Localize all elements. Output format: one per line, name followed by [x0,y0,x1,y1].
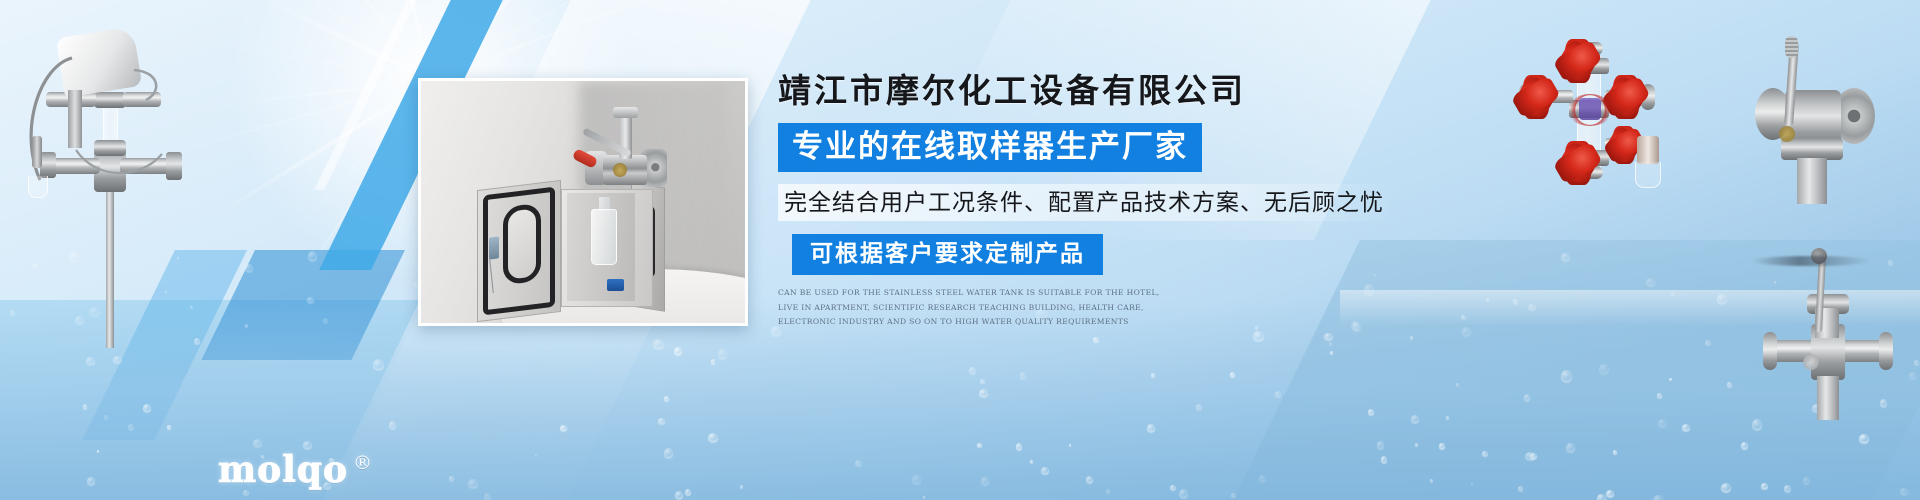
water-droplet [912,475,921,484]
water-droplet [1179,489,1188,498]
water-droplet [535,454,537,456]
water-droplet [1381,456,1387,463]
br-valve-badge [1803,354,1819,370]
water-droplet [711,359,715,364]
water-droplet [1275,391,1281,397]
manifold-sample-cup [1635,162,1661,188]
water-droplet [83,404,87,409]
sun-ray [430,0,507,80]
water-droplet [323,318,328,323]
water-droplet [1561,253,1570,261]
water-droplet [1253,331,1264,341]
water-droplet [1682,424,1690,431]
water-droplet [1461,315,1466,319]
water-droplet [373,359,384,370]
water-droplet [1324,333,1333,340]
lever-valve-handle-grip [1785,36,1798,58]
water-droplet [1518,486,1523,491]
water-droplet [1657,393,1662,398]
flanged-lever-valve-product [1745,34,1905,204]
sampler-relief-valve [32,136,42,168]
water-droplet [1456,383,1459,386]
water-droplet [253,439,262,447]
water-droplet [1439,443,1445,449]
lever-valve-badge [1779,126,1795,142]
water-droplet [468,479,478,488]
br-valve-flange-left [1763,332,1777,370]
main-product-photo[interactable] [418,78,748,326]
water-droplet [685,489,691,495]
water-droplet [1430,479,1433,482]
water-droplet [1020,372,1026,379]
sun-ray [270,79,432,329]
water-droplet [1482,451,1488,456]
water-droplet [1671,292,1674,295]
water-droplet [1525,452,1535,460]
water-droplet [86,357,95,365]
water-droplet [1151,373,1155,377]
water-droplet [1041,467,1049,474]
water-droplet [1486,298,1489,301]
water-droplet [1717,294,1727,304]
sun-ray [292,80,431,237]
water-droplet [1803,477,1810,484]
water-droplet [674,347,682,355]
sun-ray [209,79,433,221]
water-droplet [1909,372,1916,379]
water-droplet [167,425,171,429]
water-droplet [1230,372,1235,377]
water-droplet [855,460,862,466]
water-droplet [1368,409,1374,415]
water-droplet [484,493,491,500]
photo-door-lock [489,236,499,259]
sun-ray [348,0,431,80]
water-droplet [113,356,122,363]
water-droplet [664,396,669,401]
lever-valve-base-plate [1781,138,1843,160]
water-droplet [675,491,683,499]
water-droplet [1106,489,1110,493]
water-droplet [1030,460,1033,463]
sun-ray [430,0,649,81]
sun-ray [430,0,445,80]
water-droplet [1086,476,1093,483]
water-droplet [1093,337,1099,342]
water-droplet [1513,299,1518,304]
water-droplet [1606,490,1614,497]
water-droplet [1914,360,1919,365]
water-droplet [1411,415,1419,423]
handwheel-top [1561,44,1595,78]
water-droplet [560,425,567,431]
water-droplet [143,404,151,412]
br-valve-stand-pipe [1817,376,1839,420]
lever-valve-stand-pipe [1797,158,1827,204]
water-droplet [718,349,727,359]
water-droplet [979,389,988,397]
sun-ray [431,0,716,81]
tagline-highlight: 可根据客户要求定制产品 [792,234,1103,274]
manifold-emblem-center-icon [1579,98,1601,120]
water-droplet [389,421,396,429]
handwheel-bottom [1561,146,1595,180]
water-droplet [1761,483,1768,489]
water-droplet [1259,475,1266,482]
water-droplet [658,418,665,424]
sun-ray [430,0,563,80]
water-droplet [1410,336,1413,339]
left-product-pole-sampler [10,30,210,350]
water-droplet [1859,434,1869,443]
photo-valve-top-nut [613,107,638,118]
water-droplet [1669,378,1672,380]
photo-valve-badge [613,163,627,177]
sun-ray [227,0,431,80]
water-droplet [1471,483,1473,485]
water-droplet [1415,443,1418,446]
water-droplet [1446,416,1449,419]
sampler-sample-cup [28,176,48,198]
water-droplet [969,367,976,374]
water-droplet [245,324,248,327]
handwheel-right [1609,80,1643,114]
handwheel-drain [1609,130,1639,160]
water-droplet [740,485,743,488]
water-droplet [1721,483,1731,492]
water-droplet [1599,364,1609,374]
water-droplet [87,477,95,485]
headline-highlight: 专业的在线取样器生产厂家 [778,123,1202,172]
water-droplet [1752,419,1762,430]
water-droplet [1566,443,1575,452]
br-valve-reflection-line [1751,256,1871,266]
water-droplet [1147,424,1155,432]
water-droplet [1016,443,1022,450]
water-droplet [1170,485,1176,490]
water-droplet [1727,382,1732,387]
registered-trademark-icon: ® [353,454,372,473]
water-droplet [1330,351,1333,354]
brand-watermark: molqo ® [218,452,372,488]
water-droplet [664,448,673,458]
water-droplet [1329,342,1332,345]
water-droplet [1741,442,1748,449]
cross-manifold-product [1495,38,1695,188]
diagonal-stripe-accent [201,250,405,360]
water-droplet [1530,453,1537,459]
water-droplet [1597,494,1606,500]
water-droplet [1069,444,1071,446]
sub-headline: 完全结合用户工况条件、配置产品技术方案、无后顾之忧 [778,184,1394,221]
water-droplet [1613,450,1617,454]
water-droplet [708,433,718,442]
sun-ray [256,0,432,82]
water-droplet [1462,327,1471,336]
water-droplet [977,443,982,447]
water-droplet [653,339,664,349]
water-droplet [1658,419,1667,427]
water-droplet [97,450,99,452]
bottom-right-valve-product [1755,248,1905,418]
photo-sample-bottle [591,209,617,265]
water-droplet [307,297,314,303]
water-droplet [449,476,454,481]
water-droplet [980,379,985,383]
water-droplet [1646,278,1655,286]
water-droplet [1784,485,1791,492]
water-droplet [1705,340,1711,345]
banner-text-block: 靖江市摩尔化工设备有限公司 专业的在线取样器生产厂家 完全结合用户工况条件、配置… [778,72,1418,330]
photo-door-window [503,203,541,286]
water-droplet [1653,495,1664,500]
water-droplet [308,251,317,261]
water-droplet [923,496,925,498]
water-droplet [981,477,989,485]
water-droplet [104,415,108,419]
water-droplet [1524,394,1530,401]
water-droplet [1231,493,1236,497]
manifold-drain-nozzle [1637,136,1659,164]
brand-word: molqo [218,452,348,488]
water-droplet [1900,488,1908,495]
company-name: 靖江市摩尔化工设备有限公司 [778,72,1418,110]
photo-sampling-valve [581,109,669,195]
water-droplet [245,264,253,272]
water-droplet [1196,404,1202,410]
handwheel-left [1519,80,1553,114]
br-valve-flange-right [1879,332,1893,370]
water-droplet [1377,441,1384,449]
water-droplet [1561,370,1572,382]
sun-ray [241,0,432,81]
sun-ray [205,79,432,108]
english-description: CAN BE USED FOR THE STAINLESS STEEL WATE… [778,286,1178,330]
water-droplet [1528,304,1536,310]
sun-ray [430,0,570,81]
sun-ray [366,0,433,80]
water-droplet [128,424,134,430]
photo-blue-cap [607,279,624,291]
promotional-banner: 靖江市摩尔化工设备有限公司 专业的在线取样器生产厂家 完全结合用户工况条件、配置… [0,0,1920,500]
